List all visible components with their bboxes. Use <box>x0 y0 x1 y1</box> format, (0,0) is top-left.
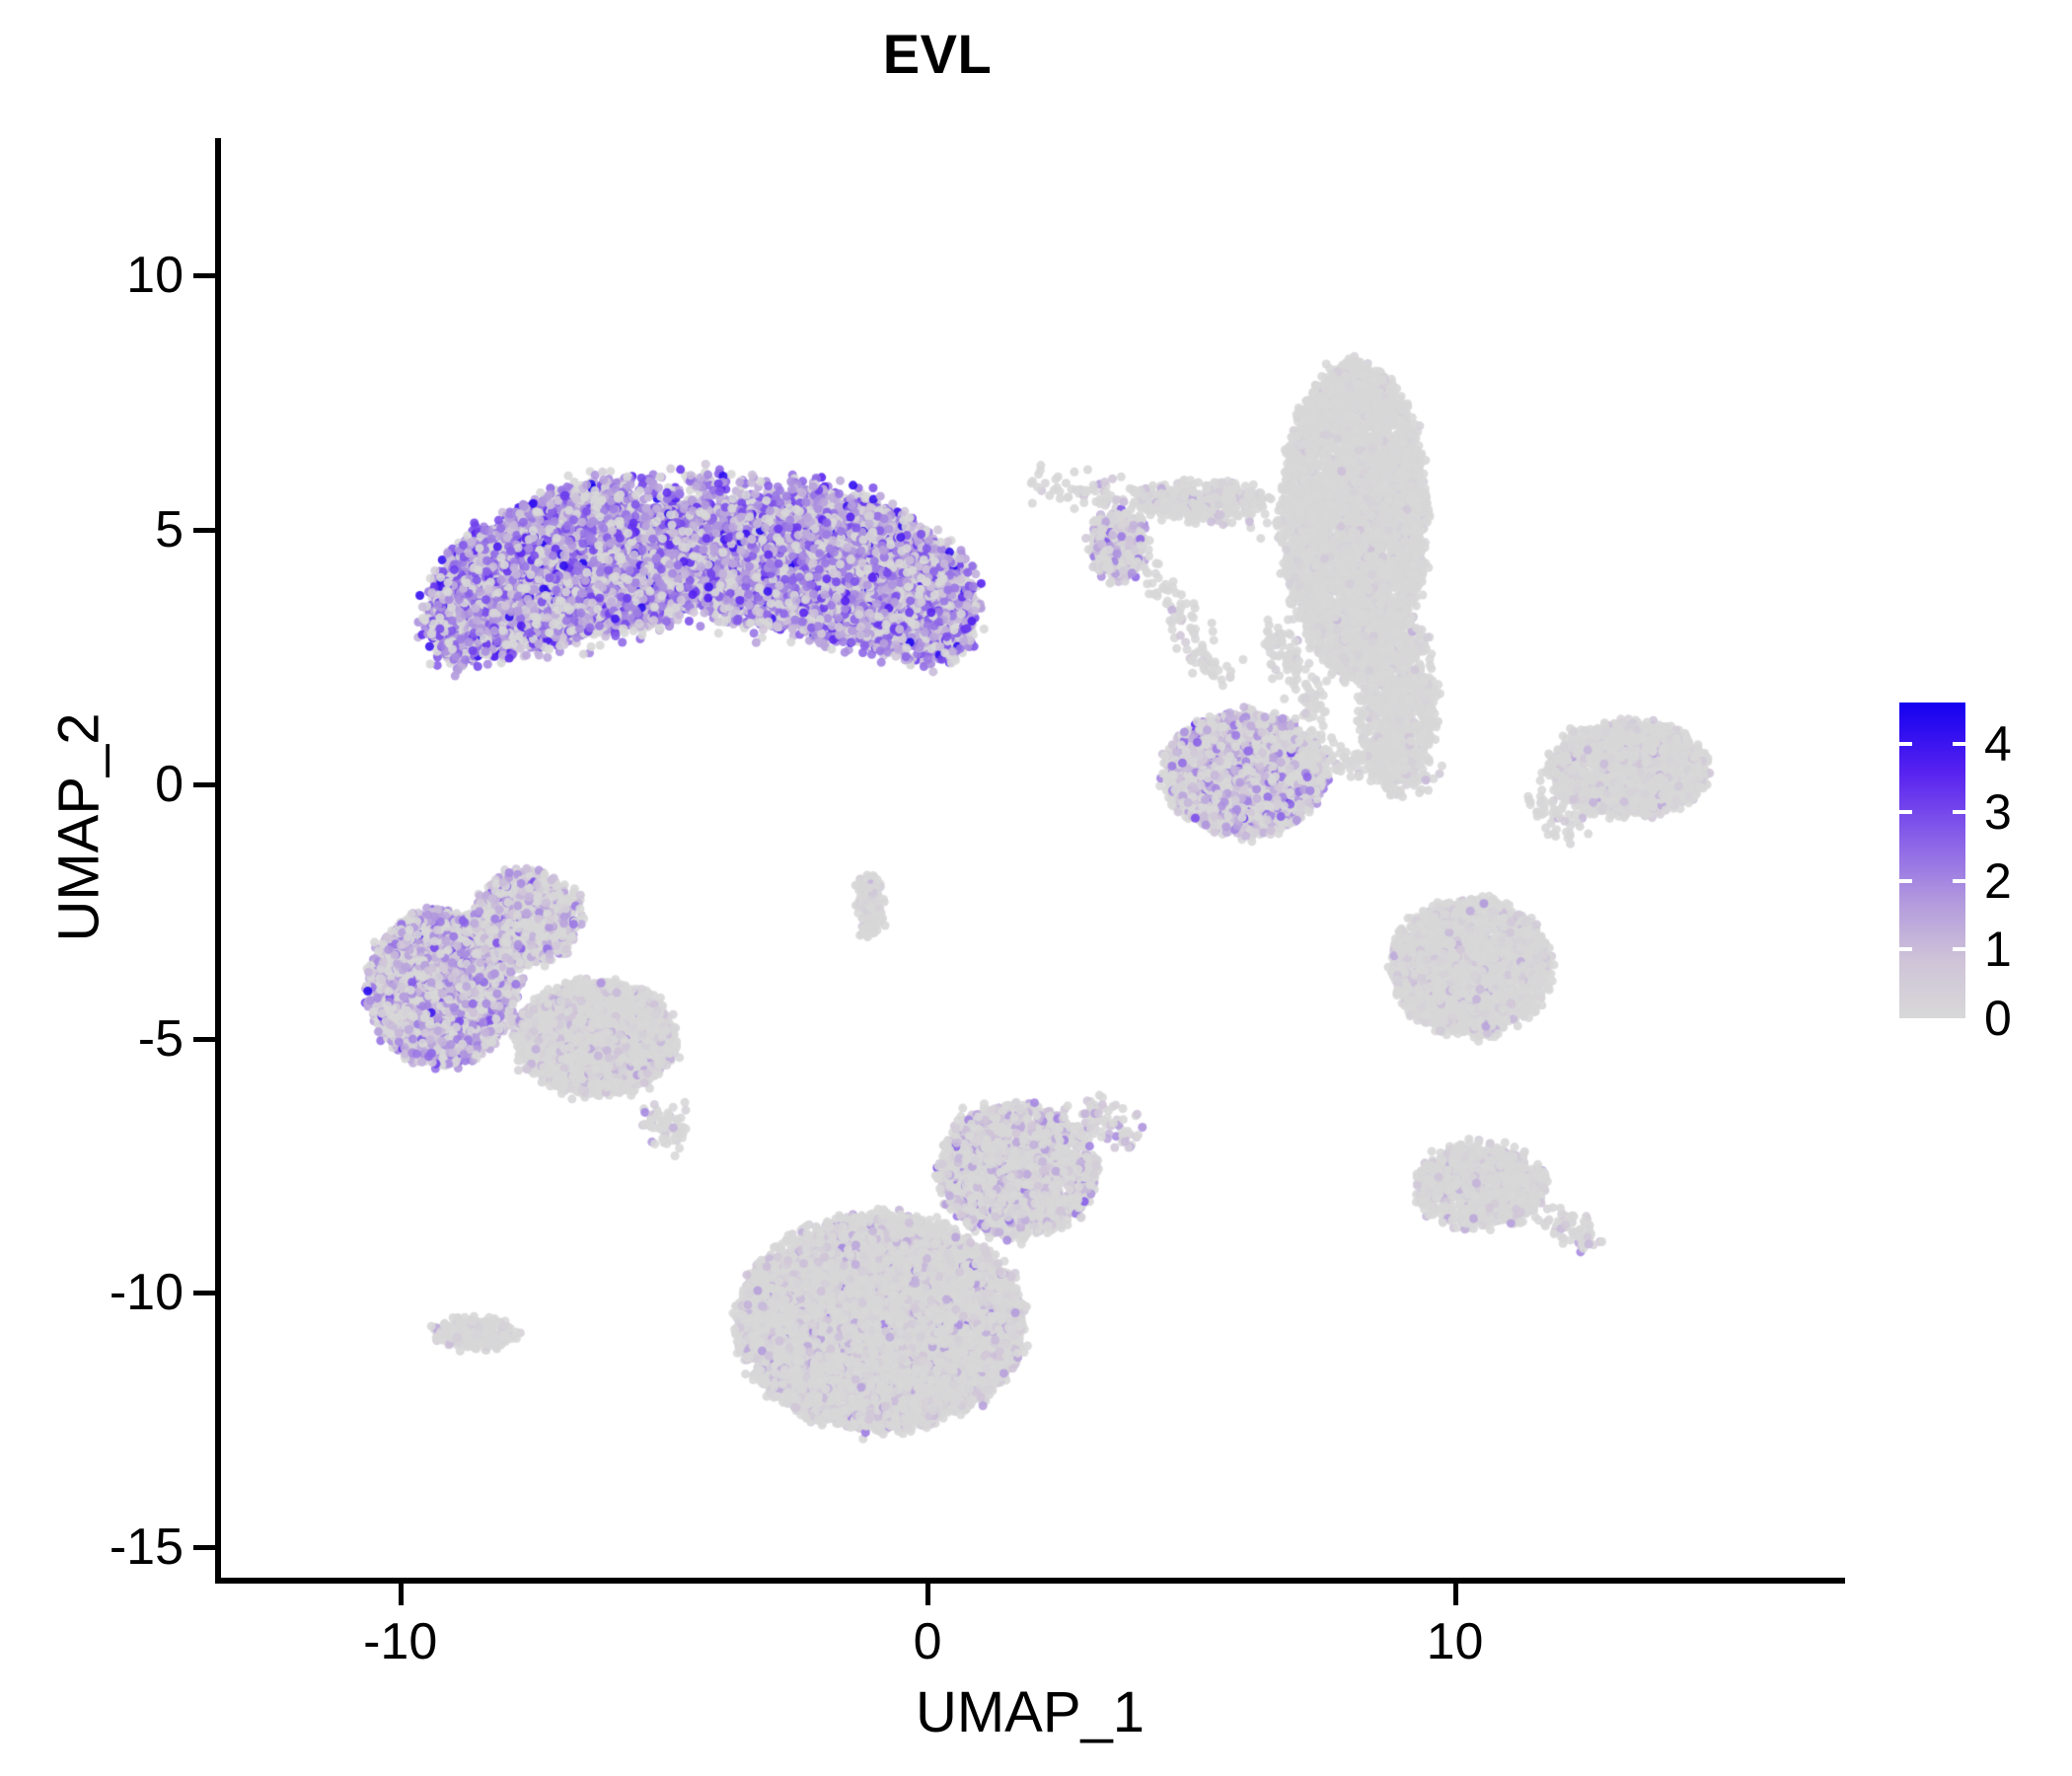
legend-label-1: 1 <box>1984 921 2012 978</box>
y-tick--10 <box>193 1291 215 1295</box>
y-tick-0 <box>193 782 215 787</box>
legend-tick-1 <box>1953 947 1965 951</box>
x-tick--10 <box>399 1584 404 1605</box>
x-tick-0 <box>925 1584 930 1605</box>
x-ticklabel--10: -10 <box>302 1612 499 1671</box>
y-tick--5 <box>193 1037 215 1042</box>
legend-label-0: 0 <box>1984 990 2012 1047</box>
y-tick--15 <box>193 1545 215 1550</box>
feature-plot-figure: EVL -15-10-50510 -10010 UMAP_1 UMAP_2 01… <box>0 0 2072 1776</box>
legend-colorbar <box>1899 703 1965 1018</box>
color-legend: 01234 <box>1899 691 2067 1031</box>
x-axis-title: UMAP_1 <box>215 1679 1845 1745</box>
y-ticklabel--15: -15 <box>0 1517 184 1577</box>
y-ticklabel-10: 10 <box>0 246 184 305</box>
legend-tick-4 <box>1899 742 1912 746</box>
scatter-plot-panel <box>221 138 1845 1578</box>
legend-tick-2 <box>1953 879 1965 883</box>
x-tick-10 <box>1453 1584 1458 1605</box>
y-tick-5 <box>193 528 215 533</box>
legend-tick-3 <box>1953 810 1965 814</box>
scatter-points-canvas <box>221 138 1845 1578</box>
legend-label-4: 4 <box>1984 715 2012 773</box>
legend-label-3: 3 <box>1984 783 2012 841</box>
y-tick-10 <box>193 273 215 278</box>
x-ticklabel-10: 10 <box>1357 1612 1554 1671</box>
legend-tick-3 <box>1899 810 1912 814</box>
x-ticklabel-0: 0 <box>829 1612 1026 1671</box>
page-title: EVL <box>0 22 1875 86</box>
legend-tick-2 <box>1899 879 1912 883</box>
x-axis-line <box>215 1578 1845 1584</box>
legend-tick-4 <box>1953 742 1965 746</box>
y-axis-title: UMAP_2 <box>46 433 112 1222</box>
y-ticklabel--10: -10 <box>0 1263 184 1322</box>
legend-tick-1 <box>1899 947 1912 951</box>
legend-label-2: 2 <box>1984 852 2012 910</box>
